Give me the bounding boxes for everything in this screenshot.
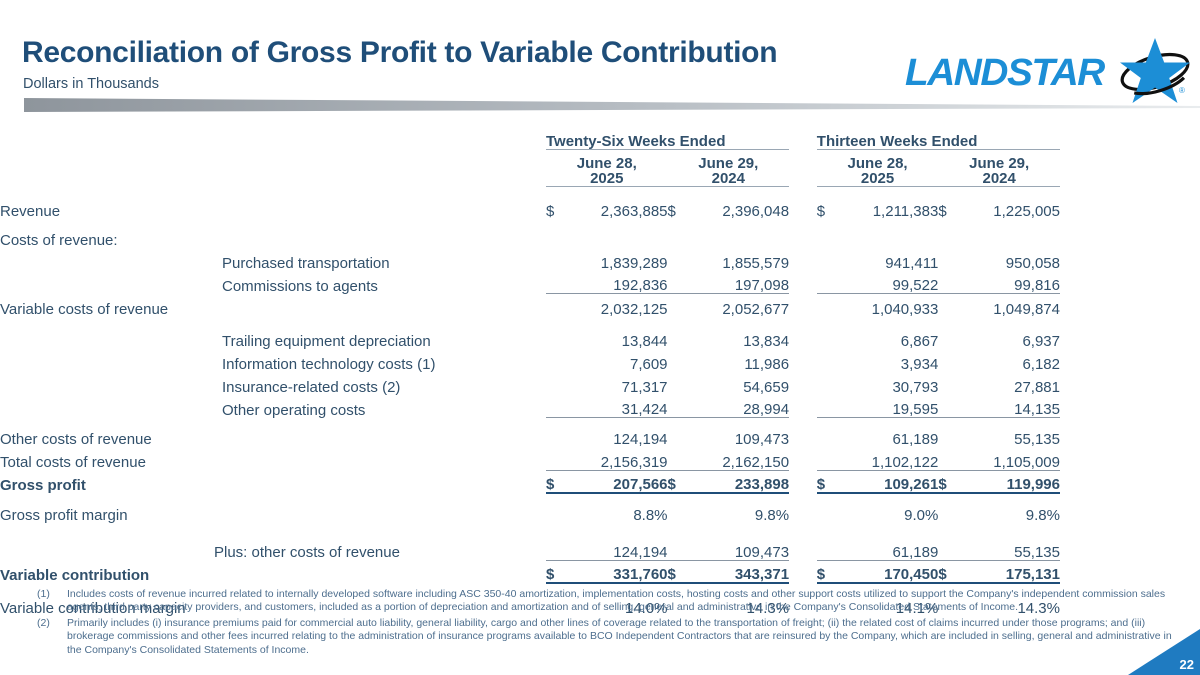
currency-symbol: $ <box>668 470 691 493</box>
cell-value: 1,839,289 <box>569 248 667 271</box>
currency-symbol: $ <box>668 560 691 583</box>
cell-value: 71,317 <box>569 372 667 395</box>
cell-value: 1,855,579 <box>691 248 789 271</box>
cell-value: 9.0% <box>840 500 938 523</box>
row-label: Revenue <box>0 196 546 219</box>
currency-symbol: $ <box>938 560 961 583</box>
spacer <box>0 523 1060 537</box>
currency-symbol: $ <box>817 560 840 583</box>
page-number: 22 <box>1180 657 1194 672</box>
cell-value: 233,898 <box>691 470 789 493</box>
table-row: Information technology costs (1) 7,609 1… <box>0 349 1060 372</box>
currency-symbol: $ <box>546 196 569 219</box>
currency-symbol: $ <box>938 470 961 493</box>
row-label: Commissions to agents <box>0 271 546 294</box>
currency-symbol: $ <box>546 470 569 493</box>
table-row: Total costs of revenue 2,156,319 2,162,1… <box>0 447 1060 470</box>
table-row: Revenue $ 2,363,885 $ 2,396,048 $ 1,211,… <box>0 196 1060 219</box>
cell-value: 3,934 <box>840 349 938 372</box>
cell-value: 8.8% <box>569 500 667 523</box>
row-label: Purchased transportation <box>0 248 546 271</box>
cell-value: 2,032,125 <box>569 294 667 317</box>
cell-value: 11,986 <box>691 349 789 372</box>
footnote-2: (2) Primarily includes (i) insurance pre… <box>34 617 1174 657</box>
cell-value: 2,396,048 <box>691 196 789 219</box>
cell-value: 14,135 <box>962 395 1060 418</box>
spacer <box>0 493 1060 500</box>
cell-value: 13,844 <box>569 326 667 349</box>
date-header-row: June 28, 2025 June 29, 2024 June 28, 202… <box>0 156 1060 187</box>
cell-value: 1,211,383 <box>840 196 938 219</box>
cell-value: 1,102,122 <box>840 447 938 470</box>
table-row: Purchased transportation 1,839,289 1,855… <box>0 248 1060 271</box>
cell-value: 13,834 <box>691 326 789 349</box>
cell-value: 124,194 <box>569 424 667 447</box>
currency-symbol: $ <box>938 196 961 219</box>
cell-value: 109,261 <box>840 470 938 493</box>
cell-value: 6,937 <box>962 326 1060 349</box>
row-label: Total costs of revenue <box>0 447 546 470</box>
row-label: Gross profit margin <box>0 500 546 523</box>
date-line2: 2025 <box>590 170 623 187</box>
footnote-text: Primarily includes (i) insurance premium… <box>67 617 1174 657</box>
cell-value: 124,194 <box>569 537 667 560</box>
table-row: Costs of revenue: <box>0 225 1060 248</box>
cell-value: 31,424 <box>569 395 667 418</box>
table-row-total: Variable contribution $ 331,760 $ 343,37… <box>0 560 1060 583</box>
cell-value: 30,793 <box>840 372 938 395</box>
financial-table-container: Twenty-Six Weeks Ended Thirteen Weeks En… <box>0 126 1200 616</box>
table-row: Insurance-related costs (2) 71,317 54,65… <box>0 372 1060 395</box>
cell-value: 28,994 <box>691 395 789 418</box>
currency-symbol: $ <box>546 560 569 583</box>
cell-value: 119,996 <box>962 470 1060 493</box>
cell-value: 207,566 <box>569 470 667 493</box>
cell-value: 941,411 <box>840 248 938 271</box>
page-subtitle: Dollars in Thousands <box>23 76 159 92</box>
cell-value: 170,450 <box>840 560 938 583</box>
spacer <box>0 186 1060 196</box>
group-header-26wk: Twenty-Six Weeks Ended <box>546 126 789 149</box>
cell-value: 55,135 <box>962 424 1060 447</box>
cell-value: 2,162,150 <box>691 447 789 470</box>
row-label: Variable contribution <box>0 560 546 583</box>
cell-value: 61,189 <box>840 424 938 447</box>
cell-value: 1,049,874 <box>962 294 1060 317</box>
reconciliation-table: Twenty-Six Weeks Ended Thirteen Weeks En… <box>0 126 1060 616</box>
registered-mark: ® <box>1179 86 1185 95</box>
table-row: Other costs of revenue 124,194 109,473 6… <box>0 424 1060 447</box>
cell-value: 61,189 <box>840 537 938 560</box>
row-label: Information technology costs (1) <box>0 349 546 372</box>
cell-value: 6,182 <box>962 349 1060 372</box>
spacer <box>0 317 1060 326</box>
date-header-col3: June 28, 2025 <box>817 156 939 187</box>
group-header-13wk: Thirteen Weeks Ended <box>817 126 1060 149</box>
cell-value: 950,058 <box>962 248 1060 271</box>
row-label: Trailing equipment depreciation <box>0 326 546 349</box>
date-line2: 2025 <box>861 170 894 187</box>
cell-value: 7,609 <box>569 349 667 372</box>
table-row: Gross profit margin 8.8% 9.8% 9.0% 9.8% <box>0 500 1060 523</box>
table-row: Other operating costs 31,424 28,994 19,5… <box>0 395 1060 418</box>
row-label: Insurance-related costs (2) <box>0 372 546 395</box>
cell-value: 109,473 <box>691 537 789 560</box>
cell-value: 9.8% <box>962 500 1060 523</box>
cell-value: 55,135 <box>962 537 1060 560</box>
date-line2: 2024 <box>712 170 745 187</box>
currency-symbol: $ <box>668 196 691 219</box>
star-icon <box>1117 36 1193 106</box>
cell-value: 109,473 <box>691 424 789 447</box>
table-row: Plus: other costs of revenue 124,194 109… <box>0 537 1060 560</box>
date-header-col2: June 29, 2024 <box>668 156 790 187</box>
cell-value: 331,760 <box>569 560 667 583</box>
footnotes: (1) Includes costs of revenue incurred r… <box>34 588 1174 659</box>
cell-value: 197,098 <box>691 271 789 294</box>
footnote-1: (1) Includes costs of revenue incurred r… <box>34 588 1174 615</box>
cell-value: 2,156,319 <box>569 447 667 470</box>
date-line2: 2024 <box>982 170 1015 187</box>
cell-value: 99,816 <box>962 271 1060 294</box>
cell-value: 27,881 <box>962 372 1060 395</box>
currency-symbol: $ <box>817 196 840 219</box>
cell-value: 192,836 <box>569 271 667 294</box>
date-header-col1: June 28, 2025 <box>546 156 668 187</box>
cell-value: 9.8% <box>691 500 789 523</box>
row-label: Plus: other costs of revenue <box>0 537 546 560</box>
currency-symbol: $ <box>817 470 840 493</box>
footnote-text: Includes costs of revenue incurred relat… <box>67 588 1174 615</box>
cell-value: 54,659 <box>691 372 789 395</box>
table-row-total: Gross profit $ 207,566 $ 233,898 $ 109,2… <box>0 470 1060 493</box>
cell-value: 2,363,885 <box>569 196 667 219</box>
table-row: Variable costs of revenue 2,032,125 2,05… <box>0 294 1060 317</box>
cell-value: 99,522 <box>840 271 938 294</box>
row-label: Variable costs of revenue <box>0 294 546 317</box>
row-label: Gross profit <box>0 470 546 493</box>
date-header-col4: June 29, 2024 <box>938 156 1060 187</box>
footnote-marker: (2) <box>34 617 67 657</box>
page-title: Reconciliation of Gross Profit to Variab… <box>22 36 777 70</box>
cell-value: 1,105,009 <box>962 447 1060 470</box>
footnote-marker: (1) <box>34 588 67 615</box>
cell-value: 6,867 <box>840 326 938 349</box>
cell-value: 1,040,933 <box>840 294 938 317</box>
table-row: Trailing equipment depreciation 13,844 1… <box>0 326 1060 349</box>
row-label: Other operating costs <box>0 395 546 418</box>
cell-value: 19,595 <box>840 395 938 418</box>
cell-value: 175,131 <box>962 560 1060 583</box>
row-label: Other costs of revenue <box>0 424 546 447</box>
group-header-row: Twenty-Six Weeks Ended Thirteen Weeks En… <box>0 126 1060 149</box>
cell-value: 2,052,677 <box>691 294 789 317</box>
cell-value: 1,225,005 <box>962 196 1060 219</box>
table-row: Commissions to agents 192,836 197,098 99… <box>0 271 1060 294</box>
row-label: Costs of revenue: <box>0 225 546 248</box>
landstar-logo: LANDSTAR ® <box>905 38 1190 102</box>
logo-wordmark: LANDSTAR <box>905 52 1104 95</box>
cell-value: 343,371 <box>691 560 789 583</box>
